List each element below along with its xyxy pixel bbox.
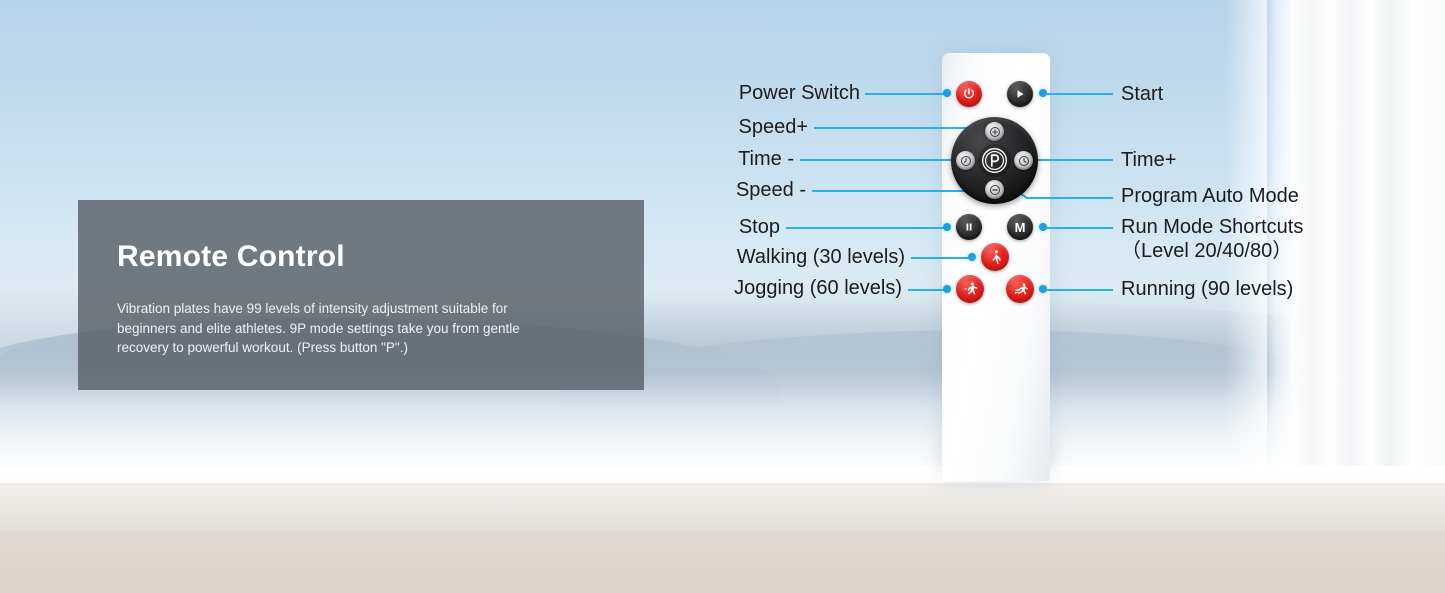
walking-person-icon — [987, 249, 1004, 266]
callout-label-stop: Stop — [460, 215, 780, 239]
callout-label-run-mode-shortcuts: Run Mode Shortcuts （Level 20/40/80） — [1121, 215, 1303, 263]
jogging-mode-button[interactable] — [956, 275, 984, 303]
speed-up-icon — [989, 126, 1001, 138]
connector-walking — [911, 257, 972, 259]
callout-label-speed-down: Speed - — [488, 178, 806, 202]
connector-time-minus — [800, 159, 956, 161]
run-mode-shortcut-button[interactable]: M — [1007, 214, 1033, 240]
connector-speed-up — [814, 127, 976, 129]
running-person-icon — [1012, 281, 1029, 298]
time-plus-button[interactable] — [1014, 151, 1033, 170]
m-letter-icon: M — [1015, 221, 1026, 234]
stop-button[interactable] — [956, 214, 982, 240]
callout-label-running: Running (90 levels) — [1121, 277, 1293, 301]
page-title: Remote Control — [117, 240, 606, 273]
dot-stop — [943, 223, 951, 231]
clock-minus-icon — [960, 155, 972, 167]
walking-mode-button[interactable] — [981, 243, 1009, 271]
p-circle-icon — [981, 147, 1008, 174]
speed-up-button[interactable] — [985, 122, 1004, 141]
connector-jogging — [908, 289, 947, 291]
dot-jogging — [943, 285, 951, 293]
callout-label-walking: Walking (30 levels) — [585, 245, 905, 269]
program-auto-mode-button[interactable] — [978, 144, 1011, 177]
connector-start — [1045, 93, 1113, 95]
window-sill-band — [0, 466, 1445, 483]
power-icon — [962, 87, 976, 101]
callout-label-time-plus: Time+ — [1121, 148, 1176, 172]
dot-power-switch — [943, 89, 951, 97]
connector-running — [1045, 289, 1113, 291]
callout-label-jogging: Jogging (60 levels) — [582, 276, 902, 300]
callout-label-start: Start — [1121, 82, 1163, 106]
pause-icon — [963, 221, 975, 233]
connector-speed-down — [812, 190, 976, 192]
floor-band — [0, 531, 1445, 593]
connector-time-plus — [1035, 159, 1113, 161]
run-mode-shortcuts-title: Run Mode Shortcuts — [1121, 216, 1303, 238]
callout-label-power-switch: Power Switch — [540, 81, 860, 105]
power-button[interactable] — [956, 81, 982, 107]
dot-walking — [968, 253, 976, 261]
connector-power-switch — [865, 93, 947, 95]
control-dial[interactable] — [951, 117, 1038, 204]
jogging-person-icon — [962, 281, 979, 298]
callout-label-time-minus: Time - — [478, 147, 794, 171]
speed-down-button[interactable] — [985, 180, 1004, 199]
product-feature-scene: Remote Control Vibration plates have 99 … — [0, 0, 1445, 593]
run-mode-shortcuts-levels: （Level 20/40/80） — [1121, 239, 1303, 263]
time-minus-button[interactable] — [956, 151, 975, 170]
running-mode-button[interactable] — [1006, 275, 1034, 303]
connector-stop — [786, 227, 947, 229]
start-button[interactable] — [1007, 81, 1033, 107]
play-icon — [1014, 88, 1026, 100]
callout-label-speed-up: Speed+ — [490, 115, 808, 139]
speed-down-icon — [989, 184, 1001, 196]
panel-description: Vibration plates have 99 levels of inten… — [117, 299, 542, 358]
connector-run-mode-shortcuts — [1045, 227, 1113, 229]
clock-plus-icon — [1018, 155, 1030, 167]
callout-label-program-auto-mode: Program Auto Mode — [1121, 184, 1299, 208]
ledge-band — [0, 483, 1445, 531]
